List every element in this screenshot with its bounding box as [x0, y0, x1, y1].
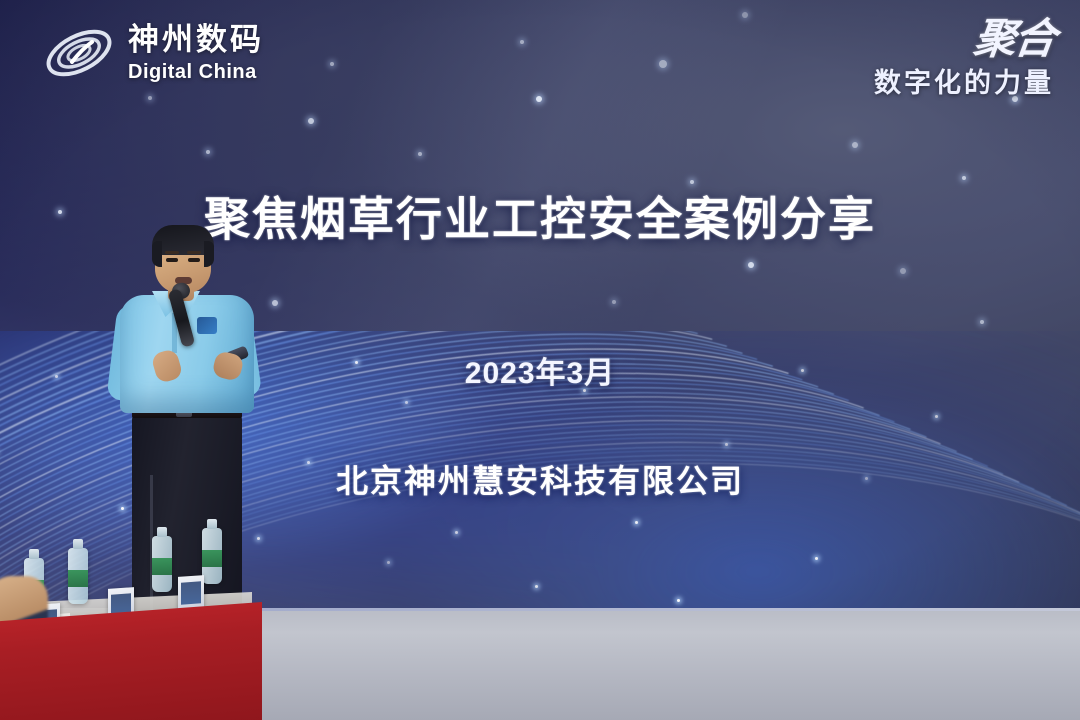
logo-name-en: Digital China — [128, 62, 264, 82]
event-tagline: 数字化的力量 — [874, 61, 1054, 100]
digital-china-logo: 神州数码 Digital China — [42, 22, 264, 84]
water-bottle — [202, 528, 222, 584]
bottle-label — [152, 558, 172, 575]
logo-name-cn: 神州数码 — [128, 24, 264, 55]
event-logo: 聚合 数字化的力量 — [874, 20, 1054, 100]
speaker-eye-left — [166, 258, 178, 262]
event-calligraphy: 聚合 — [872, 20, 1057, 59]
speaker-figure — [96, 225, 292, 625]
name-card — [178, 575, 204, 611]
speaker-hair-left — [152, 241, 162, 267]
foreground-table — [0, 566, 270, 720]
red-table-skirt — [0, 602, 262, 720]
water-bottle — [68, 548, 88, 604]
conference-stage-photo: 聚焦烟草行业工控安全案例分享 2023年3月 北京神州慧安科技有限公司 神州数码… — [0, 0, 1080, 720]
name-card-text — [181, 581, 201, 604]
bottle-label — [202, 550, 222, 567]
digital-china-swirl-icon — [42, 22, 116, 84]
speaker-eyebrow-left — [165, 251, 179, 254]
water-bottle — [152, 536, 172, 592]
digital-china-wordmark: 神州数码 Digital China — [128, 24, 264, 82]
speaker-eye-right — [188, 258, 200, 262]
shirt-logo-badge — [197, 317, 217, 334]
speaker-eyebrow-right — [187, 251, 201, 254]
speaker-hair-right — [204, 241, 214, 267]
bottle-label — [68, 570, 88, 587]
